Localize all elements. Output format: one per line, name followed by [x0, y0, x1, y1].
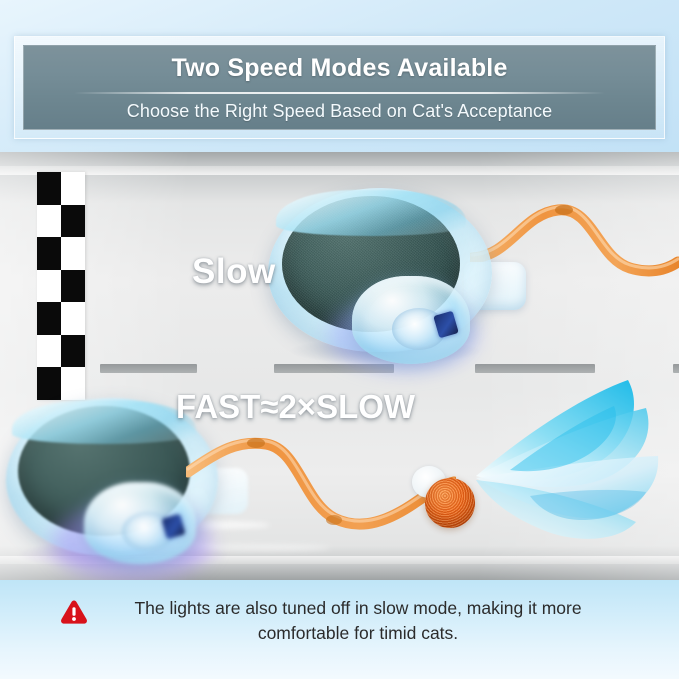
caption-text: The lights are also tuned off in slow mo…: [97, 596, 620, 645]
ball-clear-dome: [352, 276, 470, 364]
road-top-edge: [0, 166, 679, 175]
warning-triangle-icon: [60, 599, 88, 625]
feather-fan-toy: [470, 372, 670, 552]
checkered-flag-icon: [37, 172, 85, 400]
road-top-band: [0, 152, 679, 166]
header-panel-inner: Two Speed Modes Available Choose the Rig…: [23, 45, 656, 130]
ball-clear-dome: [84, 482, 196, 564]
product-infographic: Two Speed Modes Available Choose the Rig…: [0, 0, 679, 679]
page-title: Two Speed Modes Available: [171, 56, 507, 83]
orange-pompom: [425, 478, 475, 528]
ball-highlight-rim: [276, 190, 466, 236]
lane-dash: [100, 364, 197, 373]
lane-dash: [274, 364, 394, 373]
caption-bar: The lights are also tuned off in slow mo…: [0, 580, 679, 679]
slow-lane-label: Slow: [192, 252, 276, 292]
fast-lane-label: FAST≈2×SLOW: [176, 388, 415, 426]
header-panel: Two Speed Modes Available Choose the Rig…: [14, 36, 665, 139]
slow-mode-ball-toy: [268, 188, 492, 352]
page-subtitle: Choose the Right Speed Based on Cat's Ac…: [127, 102, 553, 120]
header-divider: [74, 92, 604, 94]
ball-highlight-rim: [12, 400, 196, 444]
lane-dash: [673, 364, 679, 373]
